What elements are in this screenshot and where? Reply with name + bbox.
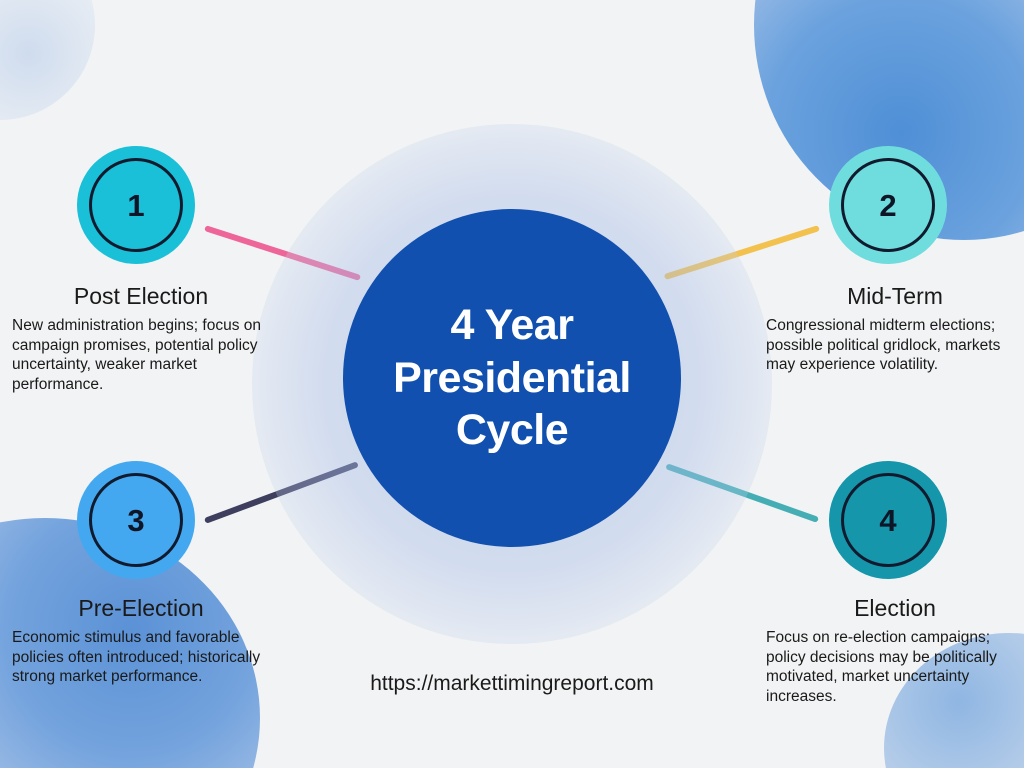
node-title-2: Mid-Term — [766, 283, 1024, 309]
connector-line-2 — [664, 225, 820, 280]
node-circle-1[interactable]: 1 — [77, 146, 195, 264]
node-number-1: 1 — [127, 190, 144, 221]
site-url[interactable]: https://markettimingreport.com — [0, 672, 1024, 696]
node-title-1: Post Election — [12, 283, 270, 309]
node-body-1: New administration begins; focus on camp… — [12, 316, 270, 394]
node-ring-4: 4 — [841, 473, 935, 567]
node-number-3: 3 — [127, 505, 144, 536]
node-title-4: Election — [766, 595, 1024, 621]
node-text-block-2: Mid-Term Congressional midterm elections… — [766, 283, 1024, 375]
node-number-4: 4 — [879, 505, 896, 536]
node-title-3: Pre-Election — [12, 595, 270, 621]
node-ring-1: 1 — [89, 158, 183, 252]
connector-line-4 — [665, 463, 819, 523]
connector-line-3 — [204, 461, 359, 524]
hub-title: 4 Year Presidential Cycle — [371, 299, 653, 458]
node-number-2: 2 — [879, 190, 896, 221]
infographic-canvas: 4 Year Presidential Cycle 1 Post Electio… — [0, 0, 1024, 768]
node-ring-2: 2 — [841, 158, 935, 252]
connector-line-1 — [204, 225, 361, 281]
node-circle-4[interactable]: 4 — [829, 461, 947, 579]
central-hub-circle: 4 Year Presidential Cycle — [343, 209, 681, 547]
node-body-2: Congressional midterm elections; possibl… — [766, 316, 1024, 374]
node-circle-3[interactable]: 3 — [77, 461, 195, 579]
background-blob-top-left — [0, 0, 95, 120]
node-text-block-1: Post Election New administration begins;… — [12, 283, 270, 394]
node-circle-2[interactable]: 2 — [829, 146, 947, 264]
node-ring-3: 3 — [89, 473, 183, 567]
